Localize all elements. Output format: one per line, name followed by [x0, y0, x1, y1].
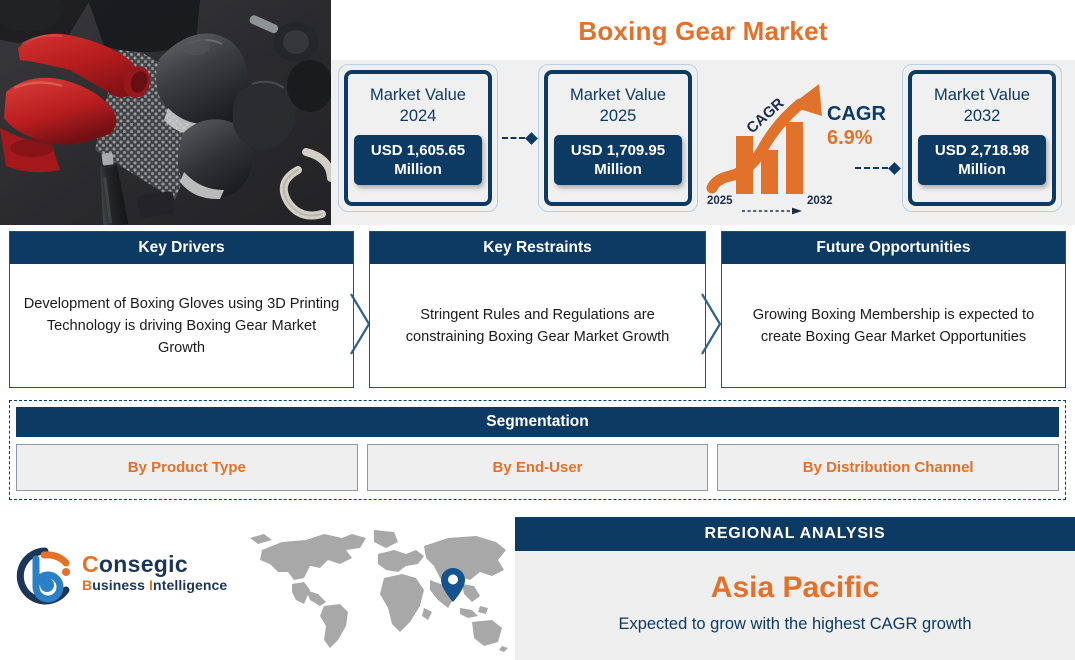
mv-2032-unit: Million	[958, 161, 1006, 178]
future-opportunities-box: Future Opportunities Growing Boxing Memb…	[721, 231, 1066, 388]
logo-wordmark: Consegic Business Intelligence	[82, 551, 227, 594]
cagr-axis-arrow-icon	[742, 202, 804, 210]
regional-analysis-heading: REGIONAL ANALYSIS	[515, 517, 1075, 551]
connector-2024-2025	[502, 133, 536, 143]
mv-2032-year: 2032	[964, 107, 1001, 125]
segmentation-panel: Segmentation By Product Type By End-User…	[9, 400, 1066, 500]
key-drivers-box: Key Drivers Development of Boxing Gloves…	[9, 231, 354, 388]
cagr-title: CAGR	[827, 103, 886, 126]
mv-2024-amount: USD 1,605.65	[371, 142, 465, 159]
market-value-card-2024: Market Value 2024 USD 1,605.65 Million	[338, 64, 498, 212]
future-opportunities-body: Growing Boxing Membership is expected to…	[722, 264, 1065, 387]
logo-tagline: Business Intelligence	[82, 577, 227, 594]
market-value-badge-2032: USD 2,718.98 Million	[918, 135, 1046, 185]
top-band: Boxing Gear Market Market Value 2024 USD…	[0, 0, 1075, 225]
boxing-gear-photo	[0, 0, 331, 225]
cagr-axis-start: 2025	[707, 195, 733, 207]
cagr-axis-end: 2032	[807, 195, 833, 207]
consegic-b-mark-icon	[14, 543, 76, 609]
chevron-right-icon	[700, 292, 722, 356]
cagr-text-block: CAGR 6.9%	[827, 103, 886, 150]
market-value-card-2032: Market Value 2032 USD 2,718.98 Million	[902, 64, 1062, 212]
segmentation-title: Segmentation	[16, 407, 1059, 437]
cagr-percent: 6.9%	[827, 126, 886, 150]
company-logo: Consegic Business Intelligence	[14, 543, 239, 613]
region-description: Expected to grow with the highest CAGR g…	[515, 615, 1075, 634]
mv-2032-label: Market Value	[934, 86, 1030, 104]
mv-2025-year: 2025	[600, 107, 637, 125]
logo-company-name: Consegic	[82, 551, 227, 577]
region-name: Asia Pacific	[515, 571, 1075, 605]
mv-2025-amount: USD 1,709.95	[571, 142, 665, 159]
chevron-right-icon	[349, 292, 371, 356]
mv-2032-amount: USD 2,718.98	[935, 142, 1029, 159]
segment-by-end-user[interactable]: By End-User	[367, 444, 709, 491]
key-restraints-body: Stringent Rules and Regulations are cons…	[370, 264, 705, 387]
infographic-page: Boxing Gear Market Market Value 2024 USD…	[0, 0, 1075, 660]
cagr-growth-chart-icon: CAGR	[706, 78, 836, 213]
page-title: Boxing Gear Market	[331, 16, 1075, 47]
mv-2025-label: Market Value	[570, 86, 666, 104]
world-map-icon	[248, 528, 510, 653]
regional-analysis-panel: REGIONAL ANALYSIS Asia Pacific Expected …	[515, 517, 1075, 660]
diamond-icon	[525, 132, 538, 145]
mv-2024-unit: Million	[394, 161, 442, 178]
mv-2024-year: 2024	[400, 107, 437, 125]
key-restraints-title: Key Restraints	[370, 232, 705, 264]
segment-by-distribution-channel[interactable]: By Distribution Channel	[717, 444, 1059, 491]
cagr-block: CAGR 2025 2032 CAGR 6.9%	[706, 78, 896, 213]
market-value-card-2025: Market Value 2025 USD 1,709.95 Million	[538, 64, 698, 212]
market-value-badge-2025: USD 1,709.95 Million	[554, 135, 682, 185]
key-drivers-title: Key Drivers	[10, 232, 353, 264]
diamond-icon	[888, 162, 901, 175]
future-opportunities-title: Future Opportunities	[722, 232, 1065, 264]
mv-2025-unit: Million	[594, 161, 642, 178]
mv-2024-label: Market Value	[370, 86, 466, 104]
connector-cagr-2032	[855, 163, 899, 173]
market-value-badge-2024: USD 1,605.65 Million	[354, 135, 482, 185]
key-drivers-body: Development of Boxing Gloves using 3D Pr…	[10, 264, 353, 387]
key-restraints-box: Key Restraints Stringent Rules and Regul…	[369, 231, 706, 388]
segment-by-product-type[interactable]: By Product Type	[16, 444, 358, 491]
segmentation-row: By Product Type By End-User By Distribut…	[16, 444, 1059, 491]
